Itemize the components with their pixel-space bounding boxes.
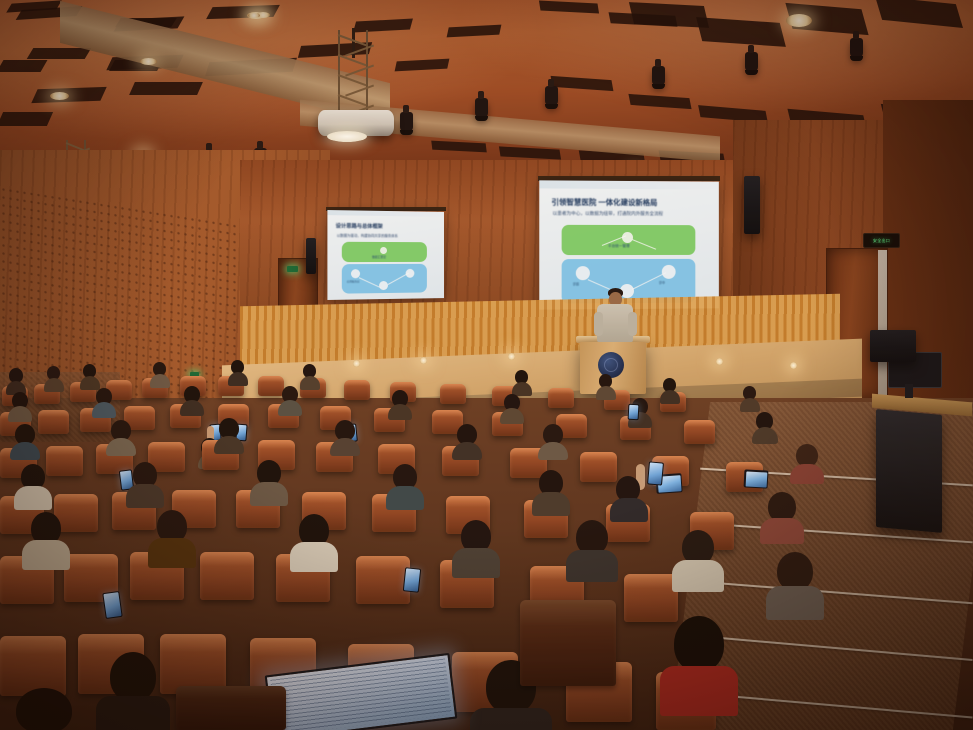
slide-header-bar (539, 180, 719, 189)
audience-torso (532, 492, 570, 516)
audience-torso (330, 438, 360, 456)
exit-sign-right: 安全出口 (863, 233, 900, 248)
audience-member (766, 552, 824, 616)
audience-member (740, 386, 760, 408)
presenter-arm (594, 312, 603, 336)
audience-member (0, 688, 92, 730)
audience-torso (760, 518, 804, 544)
ceiling-acoustic-panel (206, 5, 280, 19)
audience-torso (180, 400, 204, 416)
slide-node (380, 247, 387, 254)
track-spotlight (745, 52, 758, 72)
audience-member (80, 364, 100, 386)
left-slide-blue-label: 应用服务层 (347, 279, 360, 283)
audience-member-photographing (610, 474, 648, 518)
seat[interactable] (200, 552, 254, 600)
left-slide: 设计思路与总体框架 以数据为驱动，构建协同共享的服务体系 数据汇聚层 应用服务层 (327, 210, 444, 300)
audience-torso (610, 498, 648, 522)
audience-member (106, 420, 136, 452)
recessed-ceiling-light (140, 58, 157, 65)
audience-member (214, 418, 244, 450)
audience-member (672, 530, 724, 588)
ceiling-projector (318, 110, 394, 136)
audience-torso (388, 404, 412, 420)
audience-member (290, 514, 338, 568)
seat[interactable] (356, 556, 410, 604)
slide-header-bar (327, 210, 444, 217)
wall-mounted-speaker (306, 238, 316, 274)
audience-torso (214, 436, 244, 454)
audience-torso (386, 486, 424, 510)
laptop[interactable] (268, 664, 458, 730)
audience-torso (14, 486, 52, 510)
audience-member (180, 386, 204, 412)
left-projection-screen[interactable]: 设计思路与总体框架 以数据为驱动，构建协同共享的服务体系 数据汇聚层 应用服务层 (327, 210, 444, 300)
audience-torso (10, 442, 40, 460)
audience-torso (126, 484, 164, 508)
audience-member (760, 492, 804, 540)
stage-edge-light (508, 353, 515, 360)
audience-member (228, 360, 248, 382)
audience-member (512, 370, 532, 392)
audience-torso (500, 408, 524, 424)
laptop-screen[interactable] (265, 653, 458, 730)
audience-member (92, 388, 116, 414)
ceiling-acoustic-panel (0, 60, 47, 72)
audience-member (278, 386, 302, 412)
av-cart-monitor-stand (905, 384, 913, 398)
audience-torso (672, 560, 724, 592)
audience-member (22, 512, 70, 566)
exit-sign-left (287, 266, 298, 272)
audience-torso (92, 402, 116, 418)
right-slide-subtitle: 以患者为中心，以数据为纽带，打通院内外服务全流程 (552, 211, 663, 217)
audience-member (148, 510, 196, 564)
audience-member (14, 464, 52, 506)
recessed-ceiling-light (248, 13, 260, 18)
av-control-cart[interactable] (876, 409, 942, 533)
seat[interactable] (624, 574, 678, 622)
right-door-light-gap (878, 250, 887, 400)
wall-mounted-speaker (744, 176, 760, 234)
audience-head (674, 616, 724, 672)
audience-torso (228, 372, 248, 386)
audience-torso (660, 666, 738, 716)
seat[interactable] (0, 636, 66, 696)
audience-member (386, 464, 424, 506)
audience-torso (290, 542, 338, 572)
right-slide-green-box: 平台统一管理 (562, 225, 696, 255)
audience-torso (766, 586, 824, 620)
audience-torso (44, 378, 64, 392)
presenter (588, 288, 642, 344)
stage-edge-light (420, 357, 427, 364)
slide-node (622, 232, 633, 243)
audience-torso (150, 374, 170, 388)
audience-member (660, 378, 680, 400)
audience-member (660, 616, 738, 712)
audience-torso (8, 406, 32, 422)
ceiling-acoustic-panel (27, 48, 92, 59)
slide-connector (632, 239, 656, 250)
exit-sign-label: 安全出口 (873, 239, 890, 243)
audience-torso (278, 400, 302, 416)
stage-edge-light (353, 360, 360, 367)
audience-torso (452, 442, 482, 460)
right-wall-return (883, 100, 973, 440)
audience-member (8, 392, 32, 418)
slide-connector (388, 273, 409, 285)
audience-torso (596, 386, 616, 400)
audience-member (44, 366, 64, 388)
audience-torso (790, 464, 824, 484)
right-slide-title: 引领智慧医院 一体化建设新格局 (551, 197, 657, 209)
presenter-arm (628, 312, 637, 336)
recessed-ceiling-light (50, 92, 69, 100)
floor-loudspeaker (870, 330, 916, 362)
seat[interactable] (176, 686, 286, 730)
slide-node-label: 诊中 (659, 280, 665, 285)
track-spotlight (652, 66, 665, 86)
audience-member (500, 394, 524, 420)
left-slide-subtitle: 以数据为驱动，构建协同共享的服务体系 (337, 233, 398, 238)
audience-torso (752, 427, 778, 444)
audience-member (538, 424, 568, 456)
left-slide-green-label: 数据汇聚层 (372, 255, 386, 259)
ceiling-acoustic-panel (0, 112, 53, 126)
audience-member (596, 374, 616, 396)
audience-torso (538, 442, 568, 460)
audience-member (790, 444, 824, 480)
tablet-device[interactable] (744, 469, 769, 488)
right-slide-green-label: 平台统一管理 (608, 244, 630, 249)
audience-member (6, 368, 26, 390)
audience-member (126, 462, 164, 504)
audience-member (532, 470, 570, 512)
audience-member (250, 460, 288, 502)
audience-member (330, 420, 360, 452)
audience-torso (148, 538, 196, 568)
left-slide-title: 设计思路与总体框架 (336, 222, 383, 230)
laptop-screen-content (270, 658, 452, 730)
smartphone[interactable] (102, 591, 122, 619)
audience-member (388, 390, 412, 416)
seat[interactable] (344, 380, 370, 400)
audience-torso (740, 398, 760, 412)
track-spotlight (400, 112, 413, 132)
smartphone[interactable] (647, 461, 664, 485)
left-slide-blue-box: 应用服务层 (342, 264, 427, 294)
audience-torso (96, 696, 170, 730)
track-spotlight (545, 86, 558, 106)
audience-member (150, 362, 170, 384)
slide-node-label: 诊前 (573, 281, 579, 286)
audience-torso (250, 482, 288, 506)
seat[interactable] (684, 420, 715, 444)
audience-torso (300, 376, 320, 390)
audience-member (452, 424, 482, 456)
audience-head (110, 652, 156, 702)
audience-torso (660, 390, 680, 404)
smartphone[interactable] (403, 567, 421, 593)
slide-node (379, 281, 388, 290)
audience-member (566, 520, 618, 578)
audience-member (752, 412, 778, 440)
seat[interactable] (520, 600, 616, 686)
slide-connector (359, 277, 381, 288)
track-spotlight (850, 38, 863, 58)
audience-head (16, 688, 72, 730)
ceiling-acoustic-panel (129, 82, 203, 95)
ceiling-acoustic-panel (31, 87, 106, 103)
track-spotlight (475, 98, 488, 118)
auditorium-photo: 安全出口 设计思路与总体框架 以数据为驱动，构建协同共享的服务体系 数据汇聚层 … (0, 0, 973, 730)
stage-edge-light (790, 362, 797, 369)
audience-torso (470, 708, 552, 730)
left-slide-green-box: 数据汇聚层 (342, 242, 427, 262)
seat[interactable] (548, 388, 574, 408)
projector-scissor-lift (338, 30, 368, 112)
audience-member (96, 652, 170, 730)
stage-edge-light (716, 358, 723, 365)
audience-torso (22, 540, 70, 570)
audience-member (10, 424, 40, 456)
audience-torso (106, 438, 136, 456)
recessed-ceiling-light (786, 14, 812, 27)
audience-torso (566, 550, 618, 582)
smartphone[interactable] (628, 404, 640, 421)
audience-member (452, 520, 500, 574)
seat[interactable] (440, 384, 466, 404)
audience-member (300, 364, 320, 386)
seat[interactable] (38, 410, 69, 434)
audience-torso (452, 548, 500, 578)
